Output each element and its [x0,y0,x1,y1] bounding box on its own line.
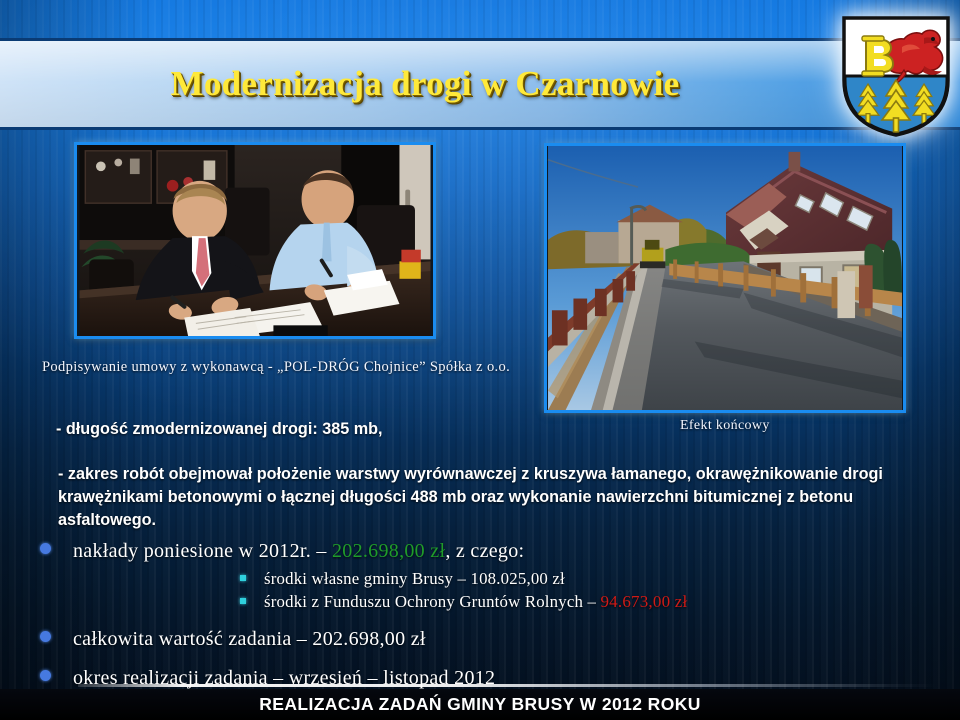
costs-line: nakłady poniesione w 2012r. – 202.698,00… [73,540,524,563]
letter-b [862,36,893,76]
bullet-dot-icon [40,543,51,554]
fogr-funds-text: środki z Funduszu Ochrony Gruntów Rolnyc… [264,592,687,612]
footer-divider [78,684,936,687]
page-title: Modernizacja drogi w Czarnowie [0,52,850,116]
list-item-costs: nakłady poniesione w 2012r. – 202.698,00… [40,540,940,563]
bullet-dot-icon [40,631,51,642]
costs-prefix: nakłady poniesione w 2012r. – [73,540,332,562]
photo-signing [74,142,436,339]
total-value-text: całkowita wartość zadania – 202.698,00 z… [73,628,426,651]
detail-scope: - zakres robót obejmował położenie warst… [56,463,924,532]
sub-bullet-square-icon [240,598,246,604]
project-details: - długość zmodernizowanej drogi: 385 mb,… [56,418,924,532]
funding-sources-list: środki własne gminy Brusy – 108.025,00 z… [40,569,940,612]
list-item-own-funds: środki własne gminy Brusy – 108.025,00 z… [40,569,940,589]
presentation-slide: Modernizacja drogi w Czarnowie [0,0,960,720]
footer-title: REALIZACJA ZADAŃ GMINY BRUSY W 2012 ROKU [0,691,960,718]
own-funds-text: środki własne gminy Brusy – 108.025,00 z… [264,569,565,589]
detail-length: - długość zmodernizowanej drogi: 385 mb, [56,418,924,441]
photo-road [544,143,906,413]
list-item-total-value: całkowita wartość zadania – 202.698,00 z… [40,628,940,651]
bullet-dot-icon [40,670,51,681]
list-item-fogr-funds: środki z Funduszu Ochrony Gruntów Rolnyc… [40,592,940,612]
fogr-amount: 94.673,00 zł [600,592,687,611]
costs-suffix: , z czego: [445,540,524,562]
sub-bullet-square-icon [240,575,246,581]
financial-bullet-list: nakłady poniesione w 2012r. – 202.698,00… [40,540,940,696]
coat-of-arms-icon [838,14,954,138]
fogr-prefix: środki z Funduszu Ochrony Gruntów Rolnyc… [264,592,600,611]
costs-amount: 202.698,00 zł [332,540,445,562]
photo-signing-caption: Podpisywanie umowy z wykonawcą - „POL-DR… [42,359,510,376]
